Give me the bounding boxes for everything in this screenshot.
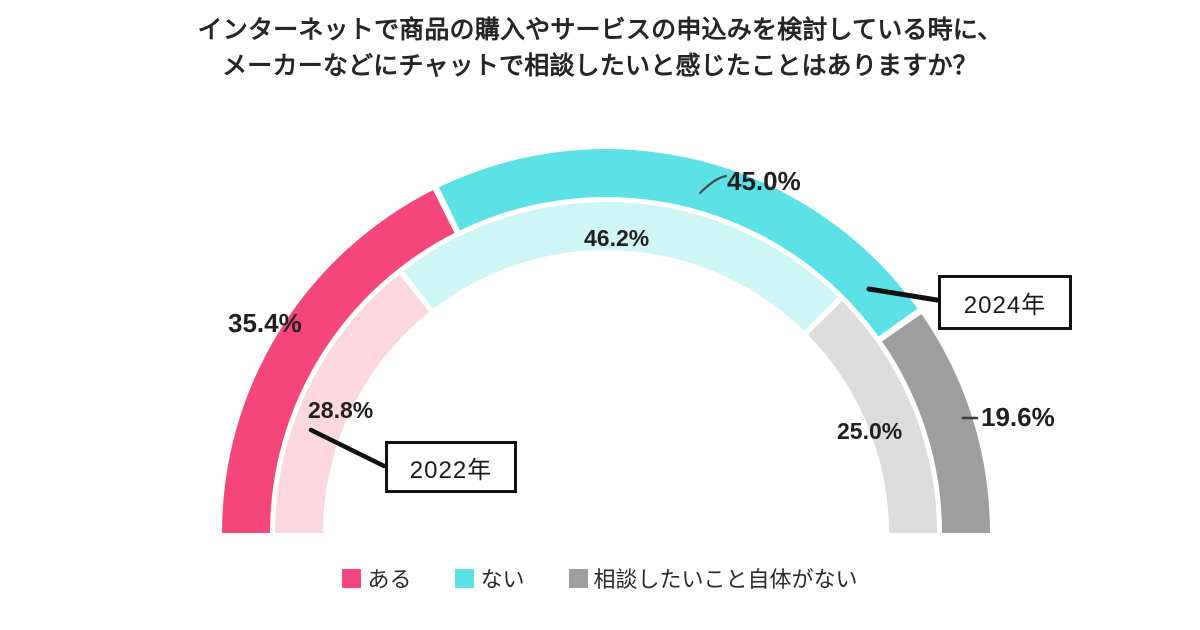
value-label-none-2024: 19.6% bbox=[981, 402, 1055, 433]
value-label-aru-2024: 35.4% bbox=[228, 308, 302, 339]
callout-box-2024: 2024年 bbox=[938, 275, 1072, 330]
value-label-aru-2022: 28.8% bbox=[308, 397, 373, 424]
legend-item-0[interactable]: ある bbox=[342, 562, 411, 594]
arc-segments bbox=[222, 149, 990, 533]
value-label-nai-2024: 45.0% bbox=[727, 166, 801, 197]
legend-label: ない bbox=[480, 562, 524, 594]
legend-label: ある bbox=[367, 562, 411, 594]
value-label-none-2022: 25.0% bbox=[837, 418, 902, 445]
legend-item-1[interactable]: ない bbox=[455, 562, 524, 594]
chart-legend: あるない相談したいこと自体がない bbox=[0, 562, 1200, 594]
legend-swatch-icon bbox=[342, 569, 361, 588]
legend-swatch-icon bbox=[569, 569, 588, 588]
chart-container: インターネットで商品の購入やサービスの申込みを検討している時に、 メーカーなどに… bbox=[0, 0, 1200, 630]
legend-item-2[interactable]: 相談したいこと自体がない bbox=[569, 562, 858, 594]
legend-swatch-icon bbox=[455, 569, 474, 588]
callout-box-2022: 2022年 bbox=[385, 441, 517, 493]
value-label-nai-2022: 46.2% bbox=[584, 225, 649, 252]
legend-label: 相談したいこと自体がない bbox=[594, 562, 858, 594]
